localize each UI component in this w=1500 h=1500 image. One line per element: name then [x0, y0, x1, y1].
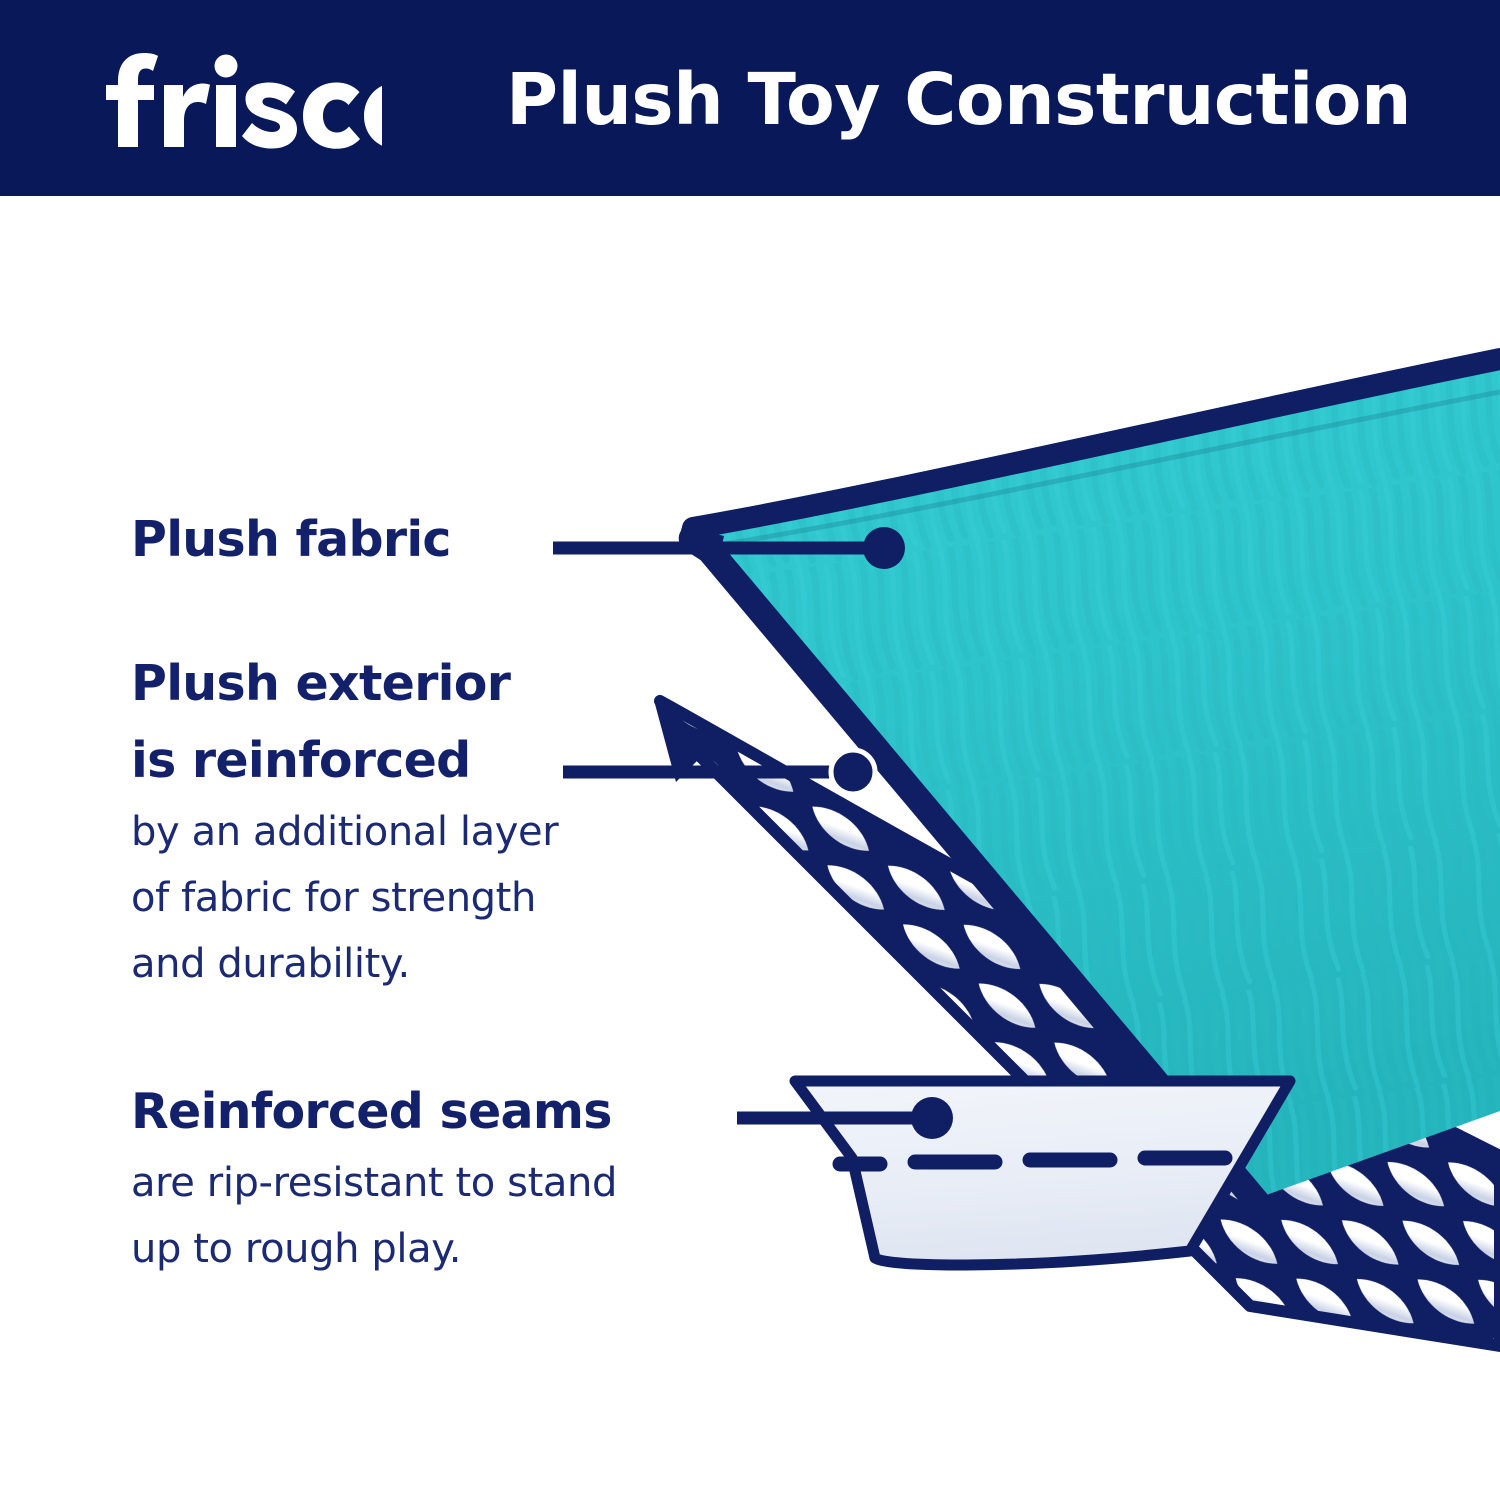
callout-plush-exterior: Plush exterior is reinforced by an addit…	[131, 645, 558, 997]
callout-reinforced-seams: Reinforced seams are rip-resistant to st…	[131, 1073, 617, 1282]
frisco-logo: R	[82, 47, 382, 157]
callout-heading-plush-fabric: Plush fabric	[131, 501, 451, 578]
callout-heading-plush-exterior-line2: is reinforced	[131, 722, 558, 799]
page-title: Plush Toy Construction	[506, 50, 1406, 150]
leader-dot-plush-exterior	[831, 750, 875, 794]
callout-body-reinforced-seams-line2: up to rough play.	[131, 1216, 617, 1282]
callout-body-plush-exterior-line1: by an additional layer	[131, 799, 558, 865]
callout-body-plush-exterior-line2: of fabric for strength	[131, 865, 558, 931]
callout-body-reinforced-seams-line1: are rip-resistant to stand	[131, 1150, 617, 1216]
callout-heading-reinforced-seams: Reinforced seams	[131, 1073, 617, 1150]
callout-heading-plush-exterior-line1: Plush exterior	[131, 645, 558, 722]
callout-body-plush-exterior-line3: and durability.	[131, 931, 558, 997]
infographic-page: R Plush Toy Construction	[0, 0, 1500, 1500]
leader-dot-reinforced-seams	[911, 1097, 953, 1139]
callout-plush-fabric: Plush fabric	[131, 501, 451, 578]
header-band: R Plush Toy Construction	[0, 0, 1500, 196]
leader-dot-plush-fabric	[863, 527, 905, 569]
